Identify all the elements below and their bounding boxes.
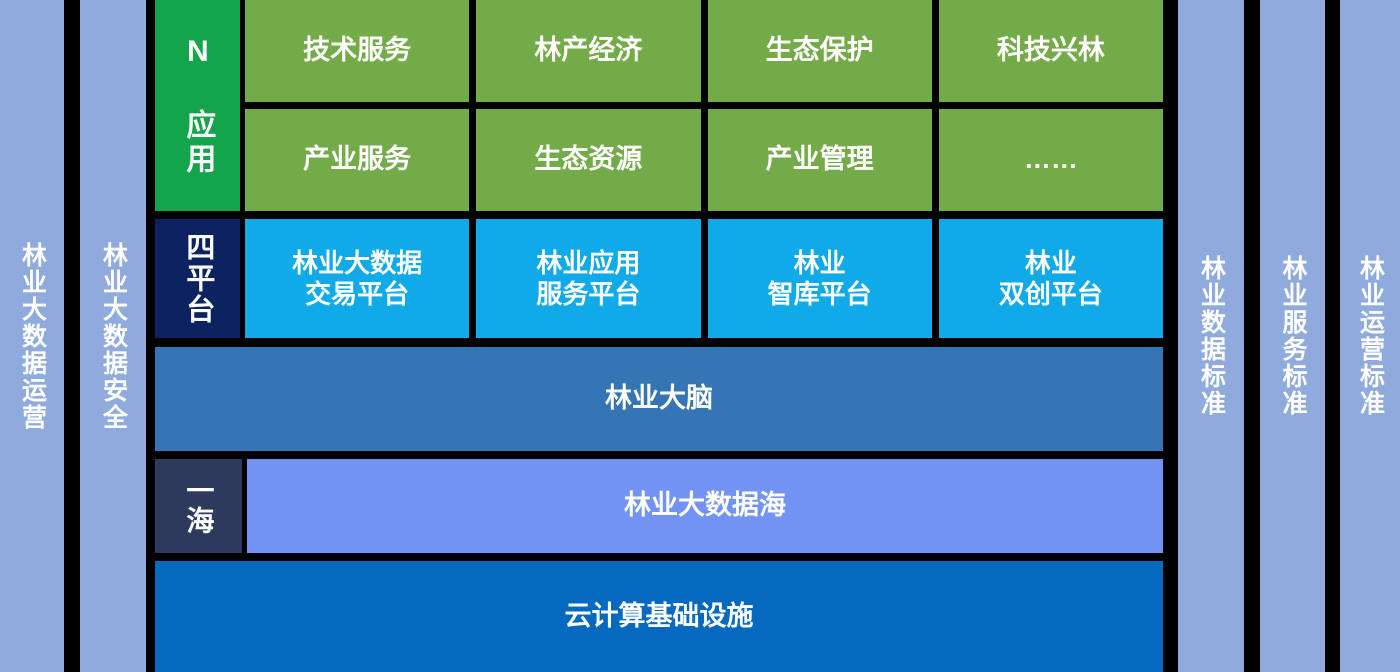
platform-box-application-service[interactable]: 林业应用 服务平台 [476, 219, 700, 338]
layer-tag-one-sea: 一海 [155, 459, 242, 553]
platforms-grid: 林业大数据 交易平台 林业应用 服务平台 林业 智库平台 林业 双创平台 [245, 219, 1163, 338]
pillar-label: 林业大数据运营 [20, 242, 45, 431]
applications-row-1: 技术服务 林产经济 生态保护 科技兴林 [245, 0, 1163, 102]
layer-forestry-brain: 林业大脑 [155, 347, 1163, 451]
pillar-forestry-data-standard: 林业数据标准 [1178, 0, 1244, 672]
pillar-forestry-service-standard: 林业服务标准 [1260, 0, 1325, 672]
app-box-industry-management[interactable]: 产业管理 [708, 109, 932, 211]
pillar-forestry-bigdata-operations: 林业大数据运营 [0, 0, 64, 672]
pillar-forestry-bigdata-security: 林业大数据安全 [80, 0, 146, 672]
app-box-technical-service[interactable]: 技术服务 [245, 0, 469, 102]
pillar-label: 林业大数据安全 [101, 242, 126, 431]
architecture-diagram: 林业大数据运营 林业大数据安全 林业数据标准 林业服务标准 林业运营标准 N 应… [0, 0, 1400, 672]
applications-grid: 技术服务 林产经济 生态保护 科技兴林 产业服务 生态资源 产业管理 …… [245, 0, 1163, 211]
platform-box-innovation[interactable]: 林业 双创平台 [939, 219, 1163, 338]
layer-data-sea: 一海 林业大数据海 [155, 459, 1163, 553]
platform-box-bigdata-trading[interactable]: 林业大数据 交易平台 [245, 219, 469, 338]
pillar-label: 林业服务标准 [1280, 255, 1305, 417]
layer-tag-applications: N 应用 [155, 0, 240, 211]
app-box-ecological-resources[interactable]: 生态资源 [476, 109, 700, 211]
layer-tag-label: 一海 [184, 476, 214, 536]
app-box-ecological-protection[interactable]: 生态保护 [708, 0, 932, 102]
layer-four-platforms: 四平台 林业大数据 交易平台 林业应用 服务平台 林业 智库平台 林业 双创平台 [155, 219, 1163, 338]
layer-tag-four-platforms: 四平台 [155, 219, 240, 338]
pillar-label: 林业数据标准 [1199, 255, 1224, 417]
app-box-forest-products-economy[interactable]: 林产经济 [476, 0, 700, 102]
applications-row-2: 产业服务 生态资源 产业管理 …… [245, 109, 1163, 211]
pillar-forestry-operations-standard: 林业运营标准 [1340, 0, 1400, 672]
layer-cloud-infrastructure: 云计算基础设施 [155, 561, 1163, 672]
forestry-bigdata-sea-label: 林业大数据海 [247, 459, 1163, 553]
layer-tag-label: 四平台 [182, 232, 213, 325]
layer-tag-label: N 应用 [182, 35, 214, 177]
app-box-industry-service[interactable]: 产业服务 [245, 109, 469, 211]
platform-box-think-tank[interactable]: 林业 智库平台 [708, 219, 932, 338]
layer-stack: N 应用 技术服务 林产经济 生态保护 科技兴林 产业服务 生态资源 产业管理 … [155, 0, 1163, 672]
layer-applications: N 应用 技术服务 林产经济 生态保护 科技兴林 产业服务 生态资源 产业管理 … [155, 0, 1163, 211]
pillar-label: 林业运营标准 [1358, 255, 1383, 417]
cloud-infrastructure-label: 云计算基础设施 [155, 561, 1163, 672]
app-box-science-tech-forestry[interactable]: 科技兴林 [939, 0, 1163, 102]
app-box-ellipsis[interactable]: …… [939, 109, 1163, 211]
forestry-brain-label: 林业大脑 [155, 347, 1163, 451]
